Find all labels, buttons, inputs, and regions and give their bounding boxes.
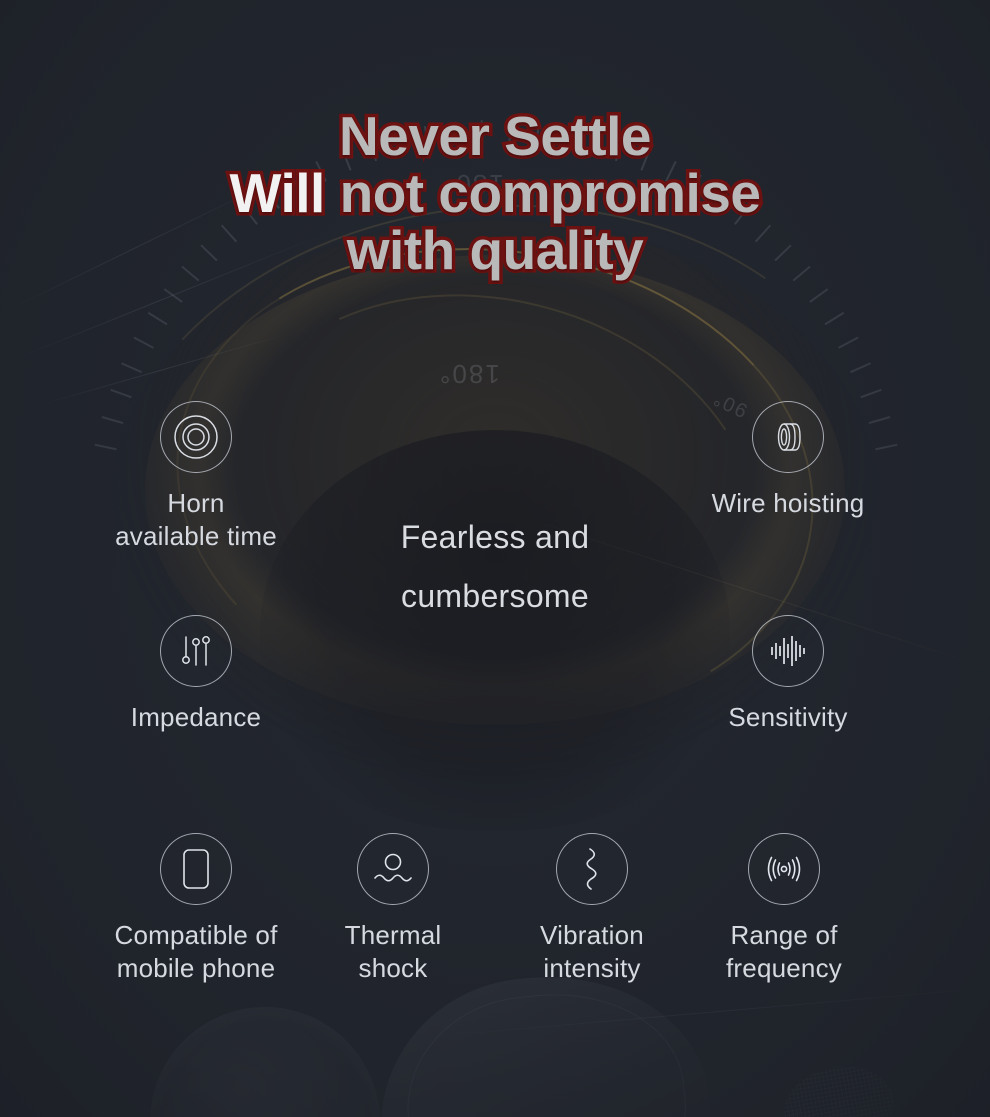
dial-tick [838,337,858,349]
headline-line-2-rest: not compromise [325,162,761,224]
feature-label: Wire hoisting [673,487,903,520]
feature-range-of-frequency[interactable]: Range of frequency [676,833,892,986]
dial-tick [860,389,881,398]
promo-banner: 180° 180° 90° Never Settle Will not comp… [0,0,990,1117]
dial-tick [164,288,183,303]
dial-tick [148,312,168,325]
dial-tick [134,337,154,349]
audio-waveform-icon [769,634,807,668]
headline-line-3: with quality [0,222,990,279]
feature-label: Sensitivity [673,701,903,734]
feature-icon-frame [160,615,232,687]
dial-label-180-lower: 180° [438,358,500,389]
page-title: Never Settle Will not compromise with qu… [0,108,990,280]
feature-compatible-mobile-phone[interactable]: Compatible of mobile phone [81,833,311,986]
dial-tick [121,362,142,373]
wire-coil-icon [769,418,807,456]
feature-icon-frame [556,833,628,905]
feature-label: Horn available time [81,487,311,554]
feature-impedance[interactable]: Impedance [81,615,311,734]
headline-emphasis: Will [230,162,325,224]
feature-icon-frame [752,615,824,687]
ghost-speaker-mesh [778,1058,900,1117]
equalizer-sliders-icon [179,634,213,668]
zigzag-wave-icon [579,847,605,891]
feature-icon-frame [357,833,429,905]
sun-waves-icon [371,849,415,889]
light-streak [421,983,990,1038]
concentric-circles-icon [173,414,219,460]
feature-wire-hoisting[interactable]: Wire hoisting [673,401,903,520]
feature-label: Impedance [81,701,311,734]
feature-vibration-intensity[interactable]: Vibration intensity [484,833,700,986]
signal-broadcast-icon [761,849,807,889]
feature-icon-frame [748,833,820,905]
dial-tick [850,362,871,373]
feature-label: Compatible of mobile phone [81,919,311,986]
feature-label: Thermal shock [285,919,501,986]
center-tagline: Fearless and cumbersome [401,508,590,626]
feature-icon-frame [752,401,824,473]
tagline-line-2: cumbersome [401,567,590,626]
headline-line-1: Never Settle [0,108,990,165]
light-streak [35,334,285,407]
dial-tick [110,389,131,398]
dial-inner-shadow [260,430,730,830]
feature-icon-frame [160,401,232,473]
headline-line-2: Will not compromise [0,165,990,222]
mobile-phone-icon [181,848,211,890]
dial-tick [825,312,845,325]
ghost-earcup-left [150,1007,380,1117]
feature-thermal-shock[interactable]: Thermal shock [285,833,501,986]
dial-tick [809,288,828,303]
feature-label: Range of frequency [676,919,892,986]
feature-label: Vibration intensity [484,919,700,986]
tagline-line-1: Fearless and [401,508,590,567]
feature-icon-frame [160,833,232,905]
feature-horn-available-time[interactable]: Horn available time [81,401,311,554]
feature-sensitivity[interactable]: Sensitivity [673,615,903,734]
